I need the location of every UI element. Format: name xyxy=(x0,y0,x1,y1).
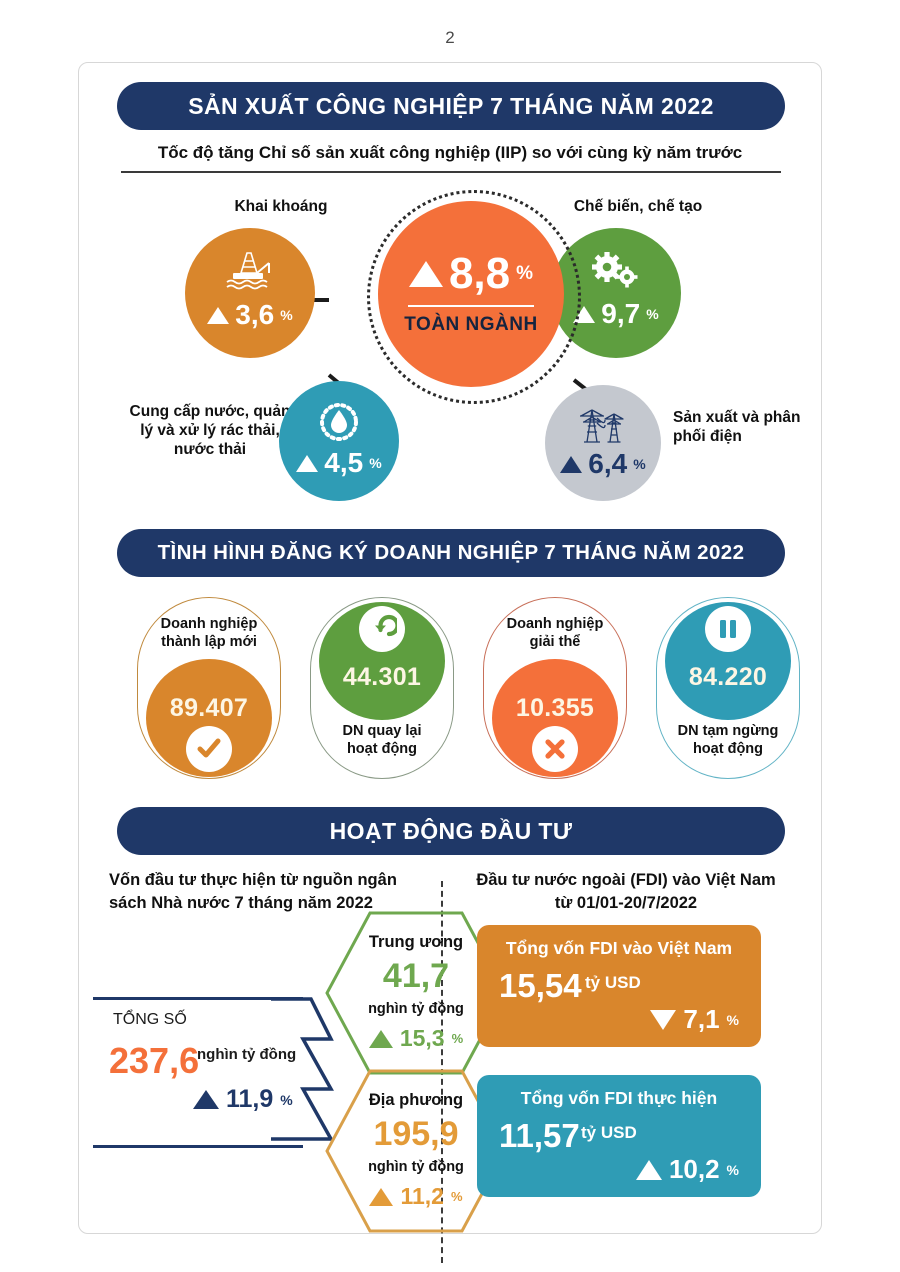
fdi-panel-total-change-row: 7,1 % xyxy=(650,1004,739,1035)
hub-separator xyxy=(408,305,534,307)
hub-value: 8,8 xyxy=(449,252,510,296)
trend-up-icon-hub xyxy=(409,261,443,287)
trend-up-icon-fdi-realized xyxy=(636,1160,662,1180)
hub-circle-total-industry[interactable]: 8,8 % TOÀN NGÀNH xyxy=(378,201,564,387)
trend-up-icon-mining xyxy=(207,307,229,324)
fdi-panel-realized-pct: % xyxy=(727,1162,739,1178)
fdi-panel-total[interactable]: Tổng vốn FDI vào Việt Nam 15,54 tỷ USD 7… xyxy=(477,925,761,1047)
hexagon-local-pct: % xyxy=(451,1189,463,1204)
fdi-panel-realized-title: Tổng vốn FDI thực hiện xyxy=(477,1088,761,1109)
fdi-panel-realized-value: 11,57 xyxy=(499,1119,580,1152)
node-caption-electricity: Sản xuất và phân phối điện xyxy=(673,409,803,447)
business-card-number-dissolved: 10.355 xyxy=(516,694,594,723)
industry-subtitle: Tốc độ tăng Chỉ số sản xuất công nghiệp … xyxy=(79,143,821,163)
fdi-panel-realized-change: 10,2 xyxy=(669,1154,720,1185)
total-change: 11,9 xyxy=(226,1085,273,1114)
industry-header-title: SẢN XUẤT CÔNG NGHIỆP 7 THÁNG NĂM 2022 xyxy=(188,93,714,120)
fdi-panel-total-value: 15,54 xyxy=(499,969,582,1002)
trend-up-icon-local xyxy=(369,1188,393,1206)
fdi-panel-total-unit: tỷ USD xyxy=(585,973,641,993)
hub-pct: % xyxy=(516,263,533,285)
fdi-panel-realized-unit: tỷ USD xyxy=(581,1123,637,1143)
business-card-number-new: 89.407 xyxy=(170,694,248,723)
gears-icon xyxy=(590,252,642,290)
industry-divider xyxy=(121,171,781,173)
investment-header-title: HOẠT ĐỘNG ĐẦU TƯ xyxy=(330,818,573,845)
business-card-label-returned: DN quay lạihoạt động xyxy=(311,722,453,758)
node-pct-electricity: % xyxy=(633,456,645,472)
business-section-header: TÌNH HÌNH ĐĂNG KÝ DOANH NGHIỆP 7 THÁNG N… xyxy=(117,529,785,577)
fdi-title: Đầu tư nước ngoài (FDI) vào Việt Nam từ … xyxy=(471,869,781,915)
water-drop-icon xyxy=(317,401,361,443)
oil-rig-icon xyxy=(223,251,277,291)
total-value: 237,6 xyxy=(109,1043,199,1079)
trend-up-icon-central xyxy=(369,1030,393,1048)
node-value-mining: 3,6 xyxy=(235,301,274,329)
node-circle-water[interactable]: 4,5 % xyxy=(279,381,399,501)
node-value-water: 4,5 xyxy=(324,449,363,477)
business-card-suspended[interactable]: 84.220 DN tạm ngừnghoạt động xyxy=(656,597,800,779)
trend-up-icon-water xyxy=(296,455,318,472)
return-arrow-icon xyxy=(359,606,405,652)
fdi-panel-realized-change-row: 10,2 % xyxy=(636,1154,739,1185)
fdi-panel-total-pct: % xyxy=(727,1012,739,1028)
page-number: 2 xyxy=(0,28,900,48)
trend-up-icon-total xyxy=(193,1090,219,1109)
business-card-label-new: Doanh nghiệpthành lập mới xyxy=(138,615,280,651)
total-label: TỔNG SỐ xyxy=(113,1011,187,1029)
node-caption-manufacturing: Chế biến, chế tạo xyxy=(533,198,743,217)
node-value-manufacturing: 9,7 xyxy=(601,300,640,328)
infographic-sheet: SẢN XUẤT CÔNG NGHIỆP 7 THÁNG NĂM 2022 Tố… xyxy=(78,62,822,1234)
check-icon xyxy=(186,726,232,772)
hexagon-central-change: 15,3 xyxy=(400,1025,445,1052)
power-pylon-icon xyxy=(575,404,631,444)
node-caption-mining: Khai khoáng xyxy=(191,198,371,217)
business-card-label-suspended: DN tạm ngừnghoạt động xyxy=(657,722,799,758)
pause-icon xyxy=(705,606,751,652)
trend-down-icon-fdi-total xyxy=(650,1010,676,1030)
investment-section-header: HOẠT ĐỘNG ĐẦU TƯ xyxy=(117,807,785,855)
business-card-label-dissolved: Doanh nghiệpgiải thể xyxy=(484,615,626,651)
node-circle-mining[interactable]: 3,6 % xyxy=(185,228,315,358)
node-pct-water: % xyxy=(369,455,381,471)
business-card-dissolved[interactable]: Doanh nghiệpgiải thể 10.355 xyxy=(483,597,627,779)
node-value-electricity: 6,4 xyxy=(588,450,627,478)
hexagon-local-change: 11,2 xyxy=(400,1183,444,1210)
business-header-title: TÌNH HÌNH ĐĂNG KÝ DOANH NGHIỆP 7 THÁNG N… xyxy=(158,541,745,565)
fdi-panel-realized[interactable]: Tổng vốn FDI thực hiện 11,57 tỷ USD 10,2… xyxy=(477,1075,761,1197)
trend-up-icon-electricity xyxy=(560,456,582,473)
hexagon-central-pct: % xyxy=(452,1031,464,1046)
business-card-returned[interactable]: 44.301 DN quay lạihoạt động xyxy=(310,597,454,779)
fdi-panel-total-title: Tổng vốn FDI vào Việt Nam xyxy=(477,938,761,959)
node-pct-mining: % xyxy=(280,307,292,323)
cross-icon xyxy=(532,726,578,772)
business-card-new[interactable]: Doanh nghiệpthành lập mới 89.407 xyxy=(137,597,281,779)
business-card-number-suspended: 84.220 xyxy=(689,663,767,692)
node-pct-manufacturing: % xyxy=(646,306,658,322)
hub-label: TOÀN NGÀNH xyxy=(404,314,537,336)
fdi-panel-total-change: 7,1 xyxy=(683,1004,719,1035)
industry-section-header: SẢN XUẤT CÔNG NGHIỆP 7 THÁNG NĂM 2022 xyxy=(117,82,785,130)
business-card-number-returned: 44.301 xyxy=(343,663,421,692)
node-circle-electricity[interactable]: 6,4 % xyxy=(545,385,661,501)
node-caption-water: Cung cấp nước, quản lý và xử lý rác thải… xyxy=(125,403,295,460)
